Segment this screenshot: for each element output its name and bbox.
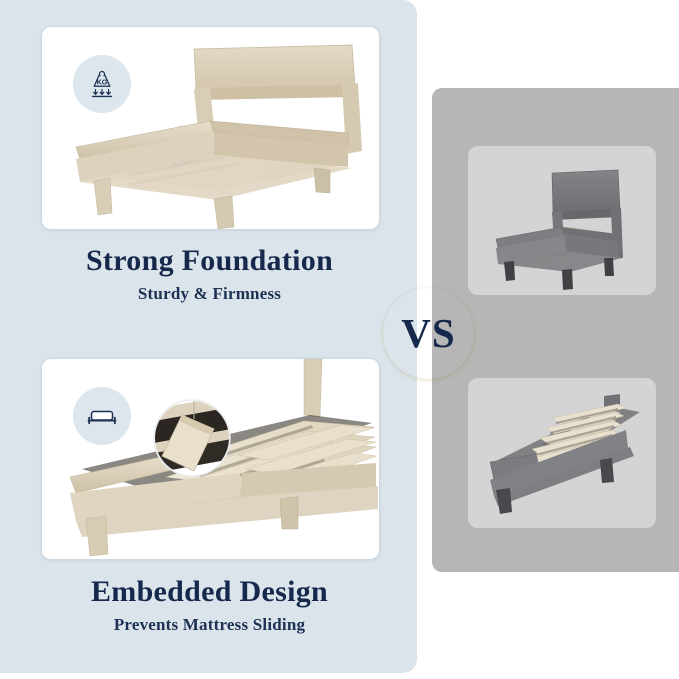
feature-title: Strong Foundation bbox=[41, 244, 378, 278]
competitor-card-slat-corner bbox=[468, 378, 656, 528]
vs-badge: VS bbox=[383, 288, 474, 379]
feature-subtitle: Sturdy & Firmness bbox=[41, 284, 378, 304]
svg-text:KG: KG bbox=[97, 77, 108, 86]
gray-slat-corner-illustration bbox=[468, 378, 656, 528]
caption-strong-foundation: Strong Foundation Sturdy & Firmness bbox=[41, 244, 378, 304]
kg-weight-load-icon: KG bbox=[73, 55, 131, 113]
competitor-card-full-bed bbox=[468, 146, 656, 295]
feature-subtitle: Prevents Mattress Sliding bbox=[41, 615, 378, 635]
caption-embedded-design: Embedded Design Prevents Mattress Slidin… bbox=[41, 575, 378, 635]
magnified-callout bbox=[154, 395, 232, 476]
vs-label: VS bbox=[401, 313, 455, 354]
gray-bed-frame-illustration bbox=[468, 146, 656, 295]
feature-card-embedded-design bbox=[41, 358, 380, 560]
infographic-canvas: KG Strong Foundation Sturdy & Firmness bbox=[0, 0, 679, 679]
feature-card-strong-foundation: KG bbox=[41, 26, 380, 230]
feature-title: Embedded Design bbox=[41, 575, 378, 609]
mattress-in-frame-icon bbox=[73, 387, 131, 445]
